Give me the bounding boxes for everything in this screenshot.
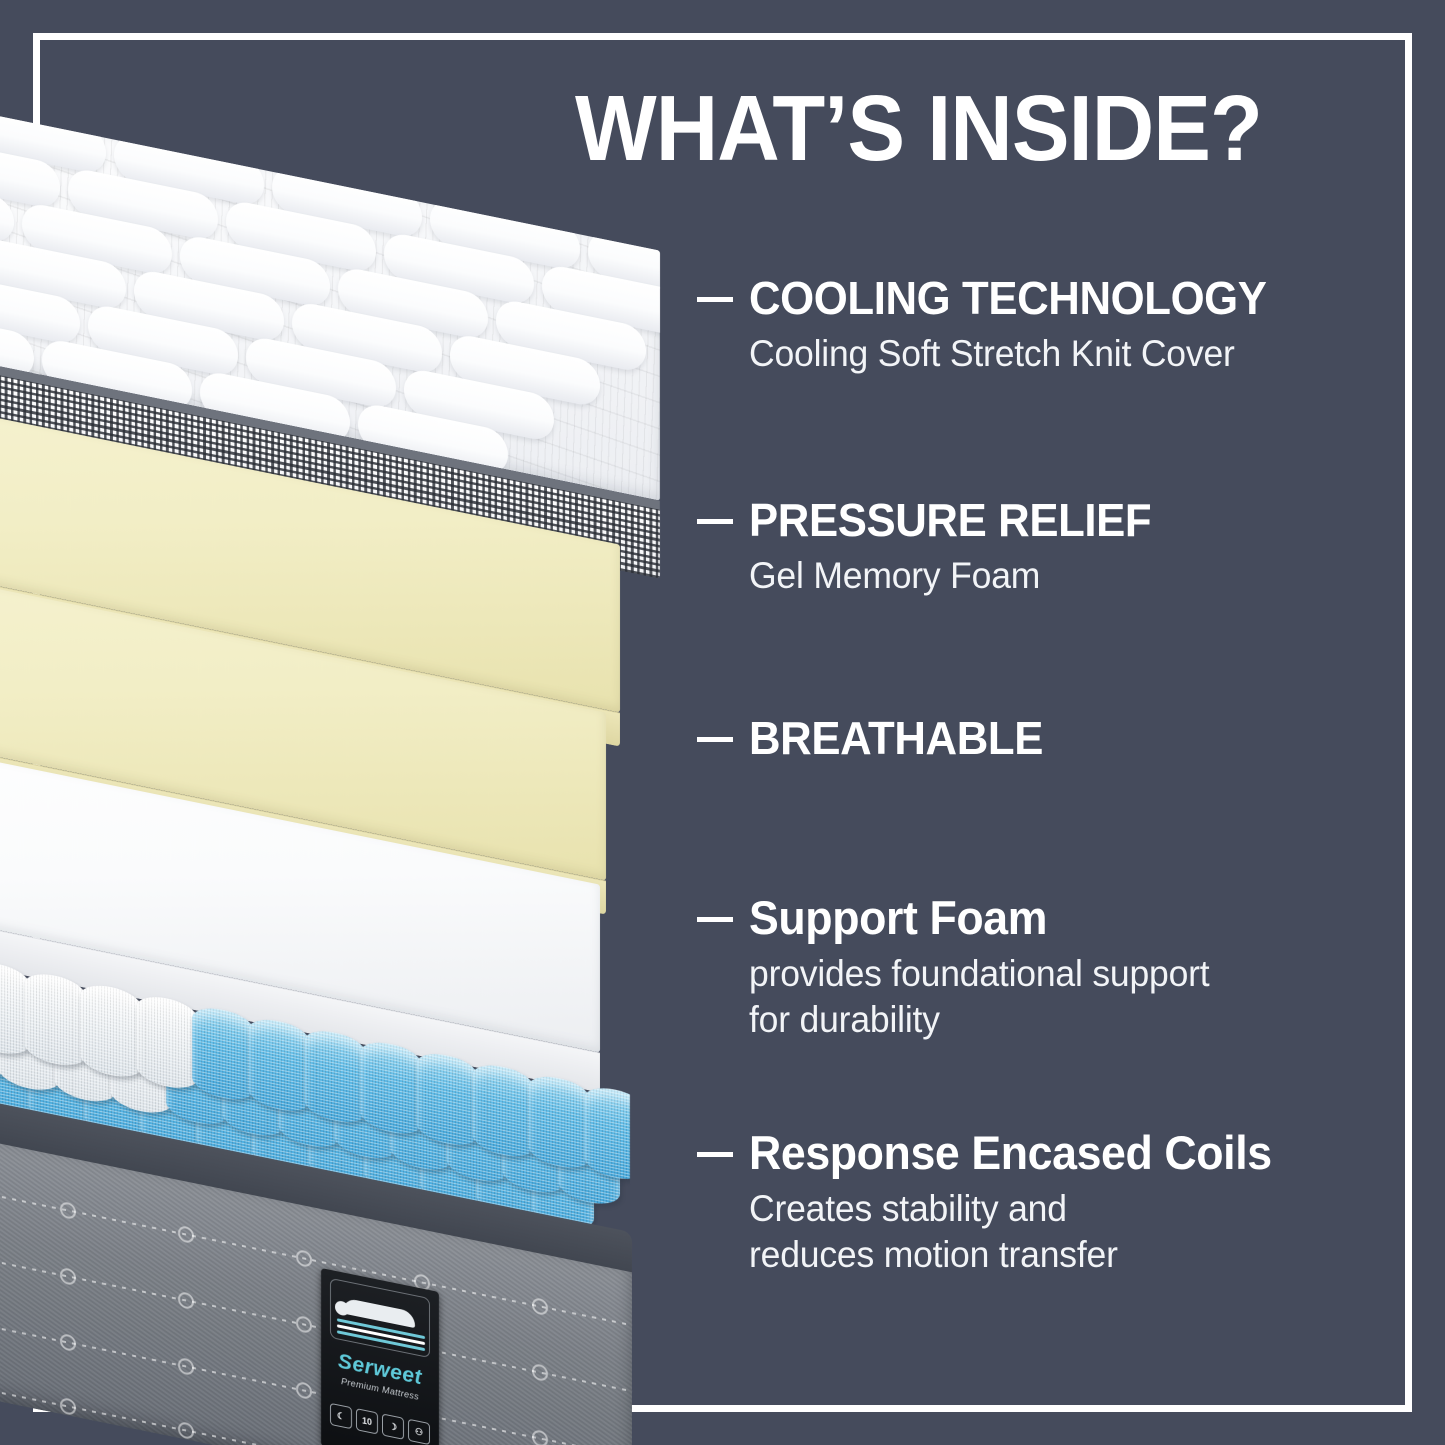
mattress-cutaway-illustration: Serweet Premium Mattress ☾10☽⚇: [0, 150, 680, 1430]
feature-subtitle: Creates stability andreduces motion tran…: [749, 1186, 1371, 1278]
pocket-coil: [360, 1038, 422, 1139]
pocket-coil: [416, 1049, 478, 1150]
feature-subtitle-line: Gel Memory Foam: [749, 553, 1371, 599]
feature-title: Support Foam: [749, 892, 1047, 944]
feature-title: BREATHABLE: [749, 712, 1043, 764]
pocket-coil: [136, 992, 198, 1093]
base-stitch-grommet: [60, 1333, 76, 1352]
bullet-dash-icon: [697, 1152, 733, 1157]
product-infographic: Serweet Premium Mattress ☾10☽⚇ WHAT’S IN…: [0, 0, 1445, 1445]
feature-heading-row: BREATHABLE: [697, 712, 1397, 764]
base-stitch-grommet: [60, 1397, 76, 1416]
bullet-dash-icon: [697, 917, 733, 922]
mattress-layer-gel-memory-foam-upper: [0, 450, 620, 618]
base-stitch-grommet: [60, 1201, 76, 1220]
pocket-coil: [472, 1061, 534, 1162]
ten-year-warranty-badge: 10: [356, 1408, 378, 1434]
feature-item-4: Support Foamprovides foundational suppor…: [697, 892, 1397, 1043]
feature-subtitle-line: reduces motion transfer: [749, 1232, 1371, 1278]
base-stitch-grommet: [296, 1249, 312, 1268]
feature-subtitle-line: for durability: [749, 997, 1371, 1043]
feature-subtitle: Cooling Soft Stretch Knit Cover: [749, 331, 1371, 377]
feature-subtitle-line: provides foundational support: [749, 951, 1371, 997]
bullet-dash-icon: [697, 737, 733, 742]
mattress-layer-gel-memory-foam-lower: [0, 618, 606, 786]
feature-title: PRESSURE RELIEF: [749, 494, 1151, 546]
feature-item-2: PRESSURE RELIEFGel Memory Foam: [697, 494, 1397, 599]
base-stitch-grommet: [178, 1225, 194, 1244]
feature-heading-row: COOLING TECHNOLOGY: [697, 272, 1397, 324]
feature-item-3: BREATHABLE: [697, 712, 1397, 764]
mattress-layer-fabric-base: [0, 1160, 632, 1445]
bullet-dash-icon: [697, 297, 733, 302]
feature-heading-row: Response Encased Coils: [697, 1127, 1397, 1179]
brand-feature-badges: ☾10☽⚇: [330, 1401, 430, 1445]
brand-label-tag: Serweet Premium Mattress ☾10☽⚇: [321, 1268, 439, 1445]
feature-item-1: COOLING TECHNOLOGYCooling Soft Stretch K…: [697, 272, 1397, 377]
base-stitch-grommet: [296, 1315, 312, 1334]
mattress-layer-cooling-knit-cover: [0, 150, 660, 400]
base-stitch-grommet: [532, 1363, 548, 1382]
sleeping-figure-logo: [330, 1278, 430, 1358]
base-stitch-grommet: [532, 1297, 548, 1316]
feature-subtitle: provides foundational supportfor durabil…: [749, 951, 1371, 1043]
feature-title: COOLING TECHNOLOGY: [749, 272, 1267, 324]
motion-isolation-icon: ⚇: [408, 1419, 430, 1445]
pocket-coil: [304, 1026, 366, 1127]
night-cloud-icon: ☾: [330, 1403, 352, 1429]
base-stitch-grommet: [60, 1267, 76, 1286]
base-stitch-grommet: [178, 1357, 194, 1376]
feature-subtitle-line: Creates stability and: [749, 1186, 1371, 1232]
base-stitch-grommet: [296, 1381, 312, 1400]
feature-subtitle: Gel Memory Foam: [749, 553, 1371, 599]
mattress-layer-support-foam: [0, 790, 600, 958]
pocket-coil: [192, 1004, 254, 1105]
pocket-coil: [24, 969, 86, 1070]
feature-heading-row: Support Foam: [697, 892, 1397, 944]
moon-icon: ☽: [382, 1413, 404, 1439]
feature-heading-row: PRESSURE RELIEF: [697, 494, 1397, 546]
pocket-coil: [248, 1015, 310, 1116]
base-stitch-grommet: [532, 1429, 548, 1445]
base-stitch-grommet: [178, 1291, 194, 1310]
base-stitch-grommet: [178, 1421, 194, 1440]
pocket-coil: [528, 1072, 590, 1173]
feature-title: Response Encased Coils: [749, 1127, 1272, 1179]
pocket-coil: [80, 981, 142, 1082]
feature-item-5: Response Encased CoilsCreates stability …: [697, 1127, 1397, 1278]
feature-subtitle-line: Cooling Soft Stretch Knit Cover: [749, 331, 1371, 377]
page-title: WHAT’S INSIDE?: [575, 78, 1347, 178]
bullet-dash-icon: [697, 519, 733, 524]
